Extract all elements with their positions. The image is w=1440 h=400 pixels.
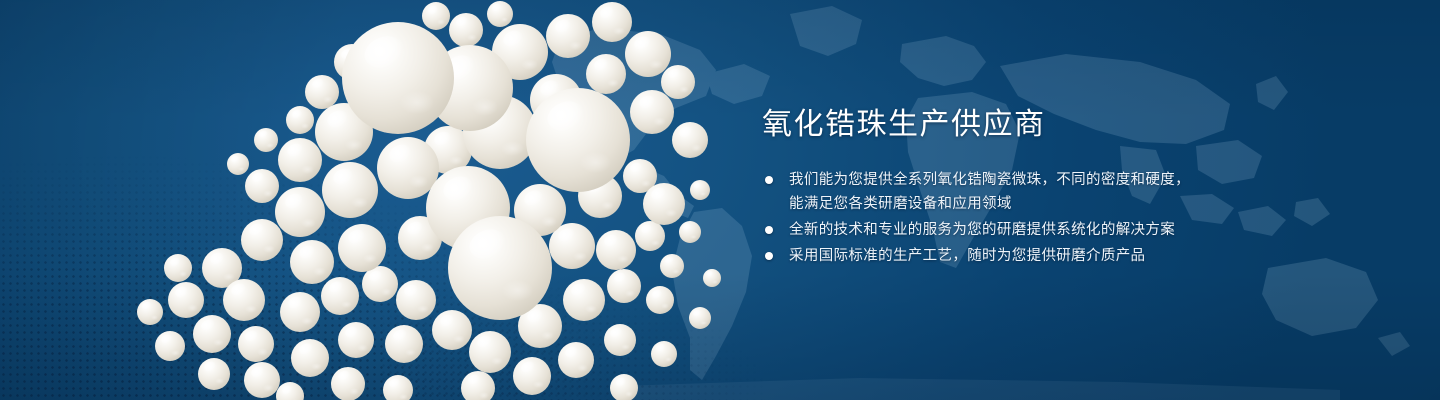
bullet-dot-icon	[765, 252, 773, 260]
list-item: 全新的技术和专业的服务为您的研磨提供系统化的解决方案	[762, 218, 1362, 242]
bullet-dot-icon	[765, 176, 773, 184]
bullet-dot-icon	[765, 226, 773, 234]
feature-bullet-list: 我们能为您提供全系列氧化锆陶瓷微珠，不同的密度和硬度， 能满足您各类研磨设备和应…	[762, 168, 1362, 268]
page-title: 氧化锆珠生产供应商	[762, 106, 1362, 144]
list-item-line-1: 全新的技术和专业的服务为您的研磨提供系统化的解决方案	[789, 218, 1362, 242]
banner-content: 氧化锆珠生产供应商 我们能为您提供全系列氧化锆陶瓷微珠，不同的密度和硬度， 能满…	[762, 106, 1362, 270]
list-item-line-1: 我们能为您提供全系列氧化锆陶瓷微珠，不同的密度和硬度，	[789, 168, 1362, 192]
list-item: 我们能为您提供全系列氧化锆陶瓷微珠，不同的密度和硬度， 能满足您各类研磨设备和应…	[762, 168, 1362, 216]
list-item: 采用国际标准的生产工艺，随时为您提供研磨介质产品	[762, 244, 1362, 268]
list-item-line-1: 采用国际标准的生产工艺，随时为您提供研磨介质产品	[789, 244, 1362, 268]
product-hero-banner: 氧化锆珠生产供应商 我们能为您提供全系列氧化锆陶瓷微珠，不同的密度和硬度， 能满…	[0, 0, 1440, 400]
list-item-line-2: 能满足您各类研磨设备和应用领域	[789, 192, 1362, 216]
